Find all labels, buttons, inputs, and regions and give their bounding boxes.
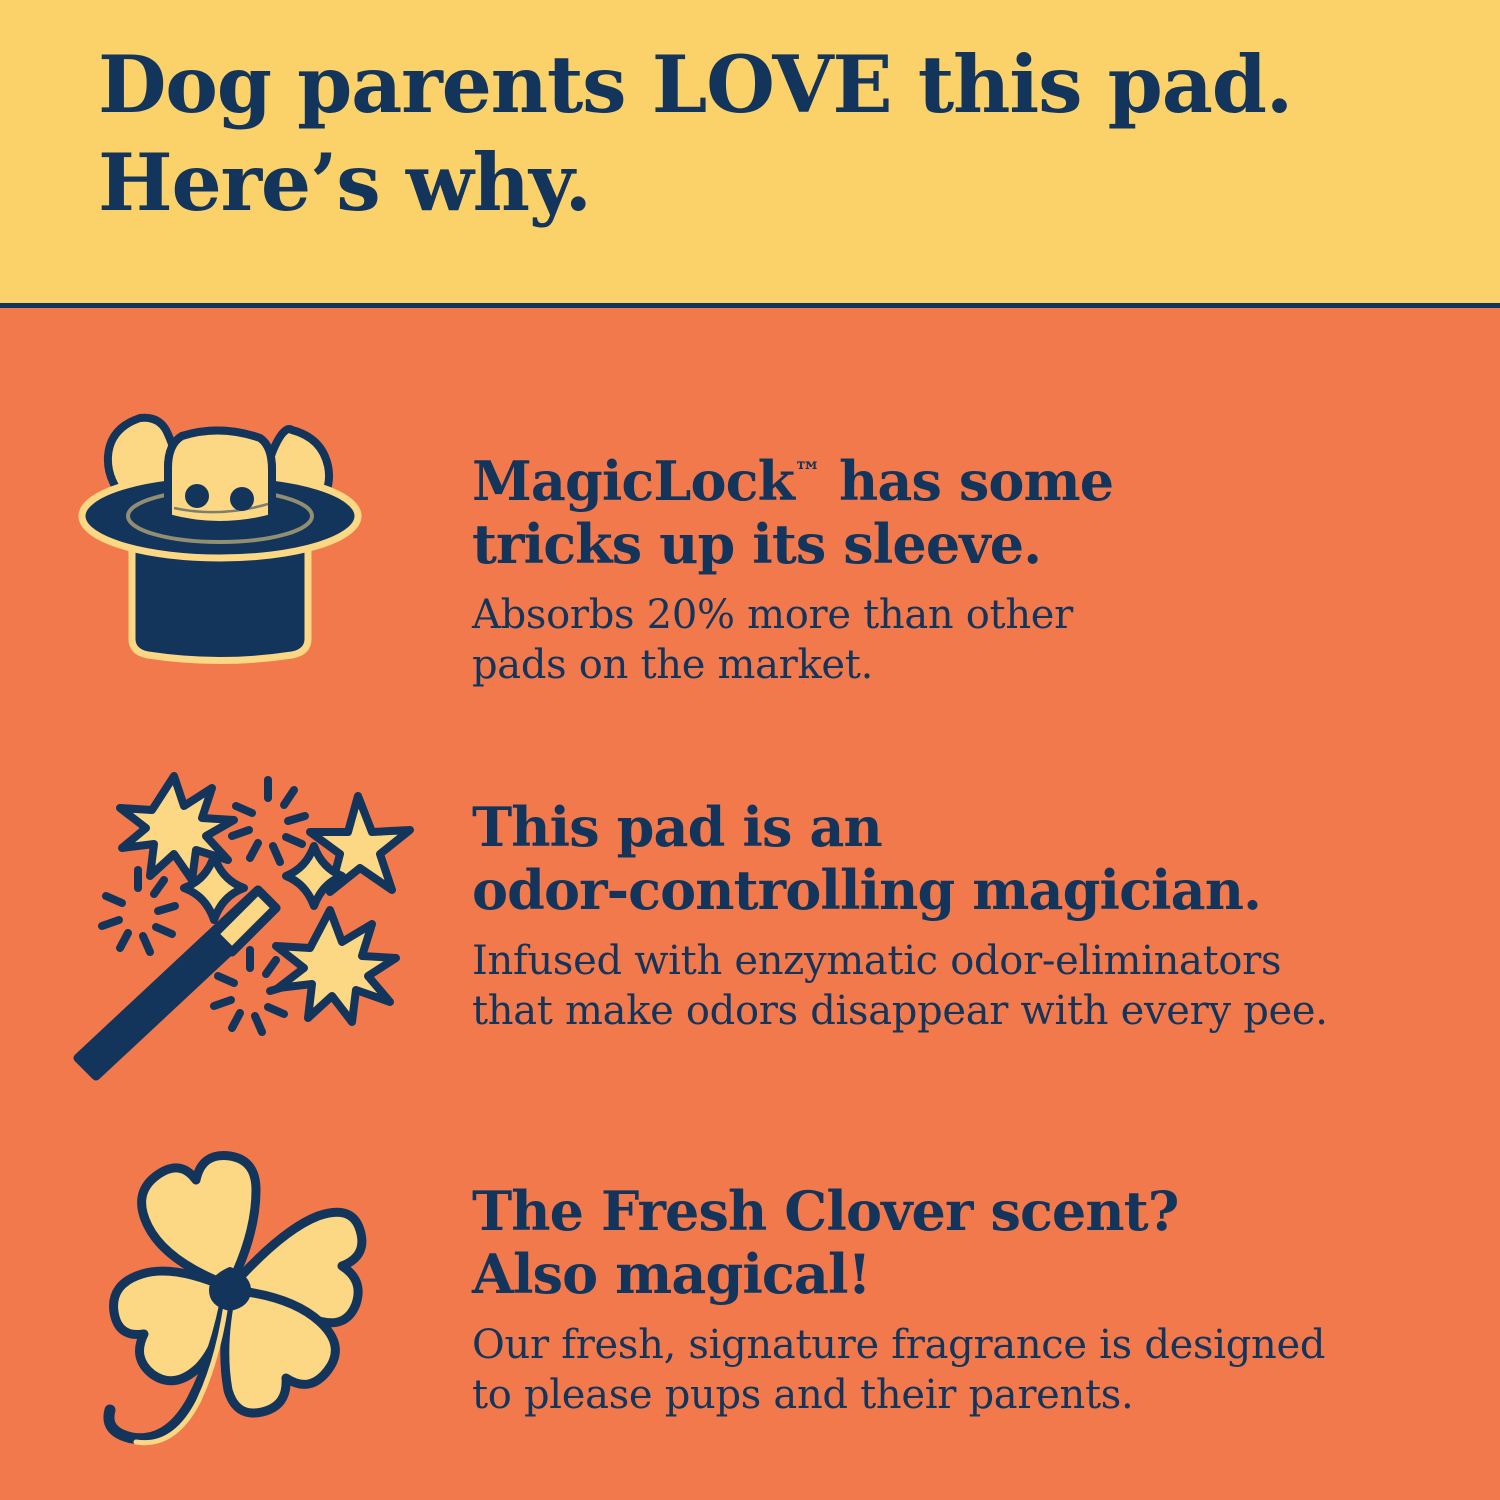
feature-list: MagicLock™ has some tricks up its sleeve… <box>0 308 1500 1500</box>
feature-text-block: MagicLock™ has some tricks up its sleeve… <box>472 450 1232 690</box>
feature-heading: This pad is an odor-controlling magician… <box>472 796 1472 922</box>
feature-body: Our fresh, signature fragrance is design… <box>472 1320 1472 1420</box>
feature-text-block: This pad is an odor-controlling magician… <box>472 796 1472 1036</box>
feature-item: This pad is an odor-controlling magician… <box>0 738 1500 1108</box>
feature-text-block: The Fresh Clover scent? Also magical! Ou… <box>472 1180 1472 1420</box>
magic-wand-sparkles-icon <box>62 758 422 1078</box>
header-banner: Dog parents LOVE this pad. Here’s why. <box>0 0 1500 303</box>
feature-body: Infused with enzymatic odor-eliminators … <box>472 936 1472 1036</box>
feature-heading: MagicLock™ has some tricks up its sleeve… <box>472 450 1232 576</box>
four-leaf-clover-icon <box>70 1138 390 1478</box>
promo-graphic: Dog parents LOVE this pad. Here’s why. <box>0 0 1500 1500</box>
feature-body: Absorbs 20% more than other pads on the … <box>472 590 1232 690</box>
page-title: Dog parents LOVE this pad. Here’s why. <box>98 36 1438 232</box>
feature-heading-brand: MagicLock <box>472 449 794 513</box>
feature-heading: The Fresh Clover scent? Also magical! <box>472 1180 1472 1306</box>
dog-in-top-hat-icon <box>70 396 370 696</box>
trademark-symbol: ™ <box>794 457 821 488</box>
feature-item: The Fresh Clover scent? Also magical! Ou… <box>0 1118 1500 1498</box>
feature-item: MagicLock™ has some tricks up its sleeve… <box>0 358 1500 718</box>
